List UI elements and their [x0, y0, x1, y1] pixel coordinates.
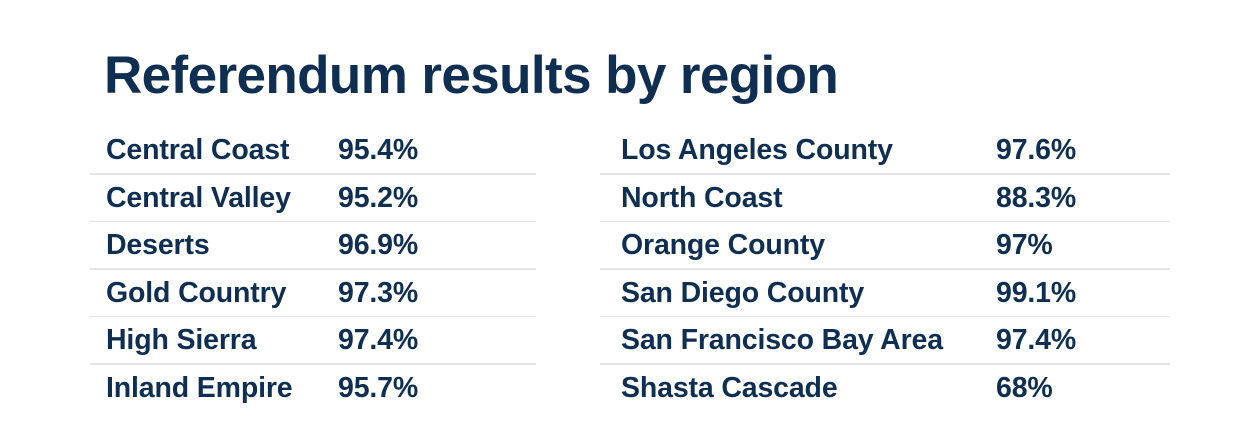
- region-label: Central Valley: [90, 182, 338, 215]
- region-label: Shasta Cascade: [600, 372, 996, 405]
- region-label: San Diego County: [600, 277, 996, 310]
- region-label: Deserts: [90, 229, 338, 262]
- table-row: North Coast 88.3%: [600, 175, 1170, 223]
- region-result: 96.9%: [338, 229, 418, 262]
- page-title: Referendum results by region: [104, 48, 838, 104]
- region-label: Inland Empire: [90, 372, 338, 405]
- region-result: 95.7%: [338, 372, 418, 405]
- region-result: 97%: [996, 229, 1053, 262]
- region-label: Los Angeles County: [600, 134, 996, 167]
- region-label: San Francisco Bay Area: [600, 324, 996, 357]
- region-result: 95.2%: [338, 182, 418, 215]
- table-row: Los Angeles County 97.6%: [600, 127, 1170, 175]
- region-result: 97.4%: [996, 324, 1076, 357]
- table-row: Deserts 96.9%: [90, 222, 536, 270]
- table-row: Inland Empire 95.7%: [90, 365, 536, 413]
- results-column-left: Central Coast 95.4% Central Valley 95.2%…: [90, 127, 536, 412]
- results-table: Central Coast 95.4% Central Valley 95.2%…: [0, 127, 1250, 412]
- region-result: 88.3%: [996, 182, 1076, 215]
- table-row: Shasta Cascade 68%: [600, 365, 1170, 413]
- table-row: Gold Country 97.3%: [90, 270, 536, 318]
- region-result: 95.4%: [338, 134, 418, 167]
- table-row: Central Valley 95.2%: [90, 175, 536, 223]
- results-column-right: Los Angeles County 97.6% North Coast 88.…: [600, 127, 1170, 412]
- region-result: 68%: [996, 372, 1053, 405]
- region-result: 97.4%: [338, 324, 418, 357]
- region-label: Orange County: [600, 229, 996, 262]
- table-row: San Francisco Bay Area 97.4%: [600, 317, 1170, 365]
- region-label: North Coast: [600, 182, 996, 215]
- region-result: 97.6%: [996, 134, 1076, 167]
- referendum-results-figure: Referendum results by region Central Coa…: [0, 0, 1250, 445]
- table-row: Orange County 97%: [600, 222, 1170, 270]
- table-row: Central Coast 95.4%: [90, 127, 536, 175]
- region-label: Central Coast: [90, 134, 338, 167]
- region-result: 97.3%: [338, 277, 418, 310]
- table-row: San Diego County 99.1%: [600, 270, 1170, 318]
- region-label: Gold Country: [90, 277, 338, 310]
- region-label: High Sierra: [90, 324, 338, 357]
- region-result: 99.1%: [996, 277, 1076, 310]
- table-row: High Sierra 97.4%: [90, 317, 536, 365]
